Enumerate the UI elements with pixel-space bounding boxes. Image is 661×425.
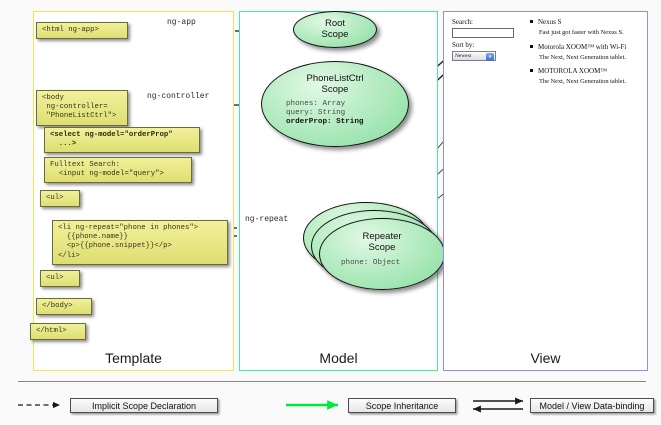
template-column-label: Template <box>34 350 233 366</box>
bullet-icon <box>530 20 533 23</box>
model-column-label: Model <box>240 350 437 366</box>
bullet-icon <box>530 69 533 72</box>
template-box-ul-open: <ul> <box>40 190 80 207</box>
phonelistctrl-scope-ellipse: PhoneListCtrl Scope phones: Array query:… <box>261 61 409 147</box>
view-phone-name: Nexus S <box>538 18 562 26</box>
phonelistctrl-prop-orderprop: orderProp: String <box>286 118 408 127</box>
legend-item-scope-inheritance: Scope Inheritance <box>348 398 456 413</box>
ng-app-label: ng-app <box>167 18 196 27</box>
view-phone-snippet: The Next, Next Generation tablet. <box>539 78 642 85</box>
view-browser-content: Search: Sort by: Newest ▾ Nexus S Fast j… <box>452 18 642 128</box>
view-phone-name: MOTOROLA XOOM™ <box>538 67 607 75</box>
template-box-html-close: </html> <box>30 323 86 340</box>
root-scope-title-2: Scope <box>294 29 376 40</box>
root-scope-ellipse: Root Scope <box>293 11 377 48</box>
chevron-down-icon: ▾ <box>486 53 494 61</box>
phonelistctrl-scope-title-2: Scope <box>262 84 408 95</box>
ng-controller-label: ng-controller <box>147 92 209 101</box>
view-sort-select[interactable]: Newest ▾ <box>452 51 496 61</box>
template-box-html-tag: <html ng-app> <box>36 22 128 39</box>
view-sort-label: Sort by: <box>452 41 522 49</box>
phonelistctrl-scope-title-1: PhoneListCtrl <box>262 73 408 84</box>
template-box-select-tag: <select ng-model="orderProp" ...> <box>44 127 200 153</box>
view-search-label: Search: <box>452 18 522 26</box>
repeater-scope-title-2: Scope <box>320 242 444 253</box>
view-phone-snippet: Fast just got faster with Nexus S. <box>539 29 642 36</box>
view-column-label: View <box>444 350 647 366</box>
view-phone-snippet: The Next, Next Generation tablet. <box>539 54 642 61</box>
view-search-input[interactable] <box>452 28 514 38</box>
template-box-body-tag: <body ng-controller= "PhoneListCtrl"> <box>36 90 128 126</box>
phonelistctrl-prop-phones: phones: Array <box>286 100 408 109</box>
template-box-search-input: Fulltext Search: <input ng-model="query"… <box>44 157 192 183</box>
view-sort-value: Newest <box>455 53 471 59</box>
diagram-canvas: Template <html ng-app> <body ng-controll… <box>0 0 661 425</box>
repeater-prop-phone: phone: Object <box>341 259 444 268</box>
view-phone-item: Motorola XOOM™ with Wi-Fi The Next, Next… <box>530 43 642 61</box>
ng-repeat-label: ng-repeat <box>245 215 288 224</box>
view-phone-item: MOTOROLA XOOM™ The Next, Next Generation… <box>530 67 642 85</box>
repeater-scope-ellipse: Repeater Scope phone: Object <box>319 218 445 290</box>
phonelistctrl-prop-query: query: String <box>286 109 408 118</box>
bullet-icon <box>530 45 533 48</box>
legend-item-implicit-scope-declaration: Implicit Scope Declaration <box>70 398 218 413</box>
view-phone-item: Nexus S Fast just got faster with Nexus … <box>530 18 642 36</box>
legend-item-model-view-data-binding: Model / View Data-binding <box>530 398 654 413</box>
root-scope-title-1: Root <box>294 18 376 29</box>
template-box-li-repeat: <li ng-repeat="phone in phones"> {{phone… <box>52 220 228 265</box>
view-phone-name: Motorola XOOM™ with Wi-Fi <box>538 43 626 51</box>
template-box-body-close: </body> <box>36 298 92 315</box>
legend: Implicit Scope Declaration Scope Inherit… <box>18 381 646 417</box>
template-box-ul-close: <ul> <box>40 270 80 287</box>
repeater-scope-title-1: Repeater <box>320 231 444 242</box>
